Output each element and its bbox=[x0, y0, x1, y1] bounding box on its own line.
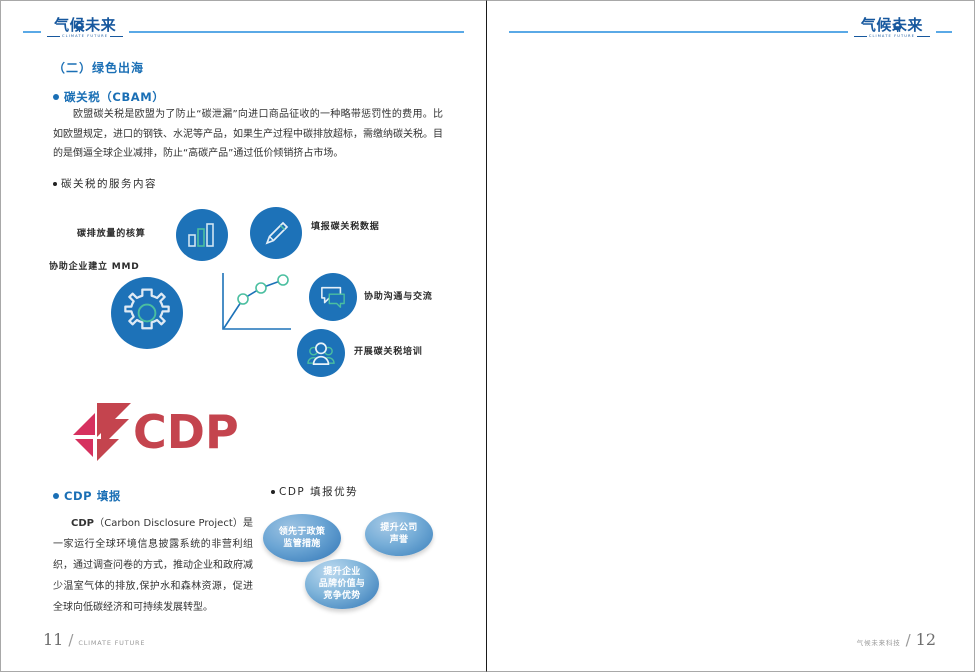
right-page: 气候未来 CLIMATE FUTURE 欧盟环境足迹（PEF） 欧盟环境足迹（P… bbox=[487, 0, 975, 672]
advantage-bubble-2-line1: 提升企业 bbox=[319, 566, 366, 578]
section-title: （二）绿色出海 bbox=[53, 59, 144, 76]
cbam-paragraph: 欧盟碳关税是欧盟为了防止“碳泄漏”向进口商品征收的一种略带惩罚性的费用。比如欧盟… bbox=[53, 105, 443, 164]
advantage-bubble-1[interactable]: 提升公司 声誉 bbox=[365, 512, 433, 556]
advantage-bubble-1-line2: 声誉 bbox=[380, 534, 417, 546]
bullet-dot-icon-cdp bbox=[53, 493, 59, 499]
gear-icon bbox=[119, 285, 175, 341]
leaf-icon-right bbox=[891, 21, 904, 34]
cdp-advantage-label: CDP 填报优势 bbox=[271, 484, 358, 499]
service-icon-people[interactable] bbox=[297, 329, 345, 377]
service-icon-pencil[interactable] bbox=[250, 207, 302, 259]
footer-caption-right: 气候未来科技 bbox=[857, 637, 901, 647]
footer-right: 气候未来科技 / 12 bbox=[857, 630, 936, 649]
service-label-3: 协助沟通与交流 bbox=[364, 289, 433, 302]
advantage-bubble-2-line2: 品牌价值与 bbox=[319, 578, 366, 590]
logo-subtitle-left: CLIMATE FUTURE bbox=[47, 35, 123, 39]
service-label-0: 碳排放量的核算 bbox=[77, 226, 146, 239]
footer-page-number-left: 11 bbox=[43, 630, 63, 649]
cdp-filing-heading-text: CDP 填报 bbox=[64, 488, 121, 504]
logo-subtitle-right: CLIMATE FUTURE bbox=[854, 35, 930, 39]
service-icon-speech[interactable] bbox=[309, 273, 357, 321]
book-spread: 气候未来 CLIMATE FUTURE （二）绿色出海 碳关税（CBAM） 欧盟… bbox=[0, 0, 975, 672]
footer-slash-right: / bbox=[906, 631, 911, 649]
service-content-label: 碳关税的服务内容 bbox=[53, 176, 157, 191]
footer-caption-left: CLIMATE FUTURE bbox=[78, 639, 145, 647]
line-chart-icon bbox=[217, 271, 295, 337]
leaf-icon-left bbox=[73, 21, 86, 34]
cdp-logo-text: CDP bbox=[133, 405, 239, 459]
footer-slash-left: / bbox=[68, 631, 73, 649]
cdp-paragraph-bold: CDP bbox=[71, 518, 94, 529]
bullet-dot-icon bbox=[53, 94, 59, 100]
cbam-service-infographic: 碳排放量的核算 填报碳关税数据 协助企业建立 MMD bbox=[39, 201, 449, 381]
service-icon-bar-chart[interactable] bbox=[176, 209, 228, 261]
footer-left: 11 / CLIMATE FUTURE bbox=[43, 630, 145, 649]
advantage-bubble-0[interactable]: 领先于政策 监管措施 bbox=[263, 514, 341, 562]
cdp-paragraph: CDP（Carbon Disclosure Project）是一家运行全球环境信… bbox=[53, 513, 253, 618]
cdp-advantage-label-text: CDP 填报优势 bbox=[279, 484, 358, 499]
small-bullet-icon bbox=[53, 182, 57, 186]
advantage-bubble-2[interactable]: 提升企业 品牌价值与 竞争优势 bbox=[305, 559, 379, 609]
cdp-logo: CDP bbox=[71, 399, 251, 461]
cdp-paragraph-text: （Carbon Disclosure Project）是一家运行全球环境信息披露… bbox=[53, 518, 253, 613]
advantage-bubble-1-line1: 提升公司 bbox=[380, 522, 417, 534]
speech-bubble-icon bbox=[318, 284, 348, 310]
footer-page-number-right: 12 bbox=[916, 630, 936, 649]
bar-chart-icon bbox=[187, 222, 217, 248]
advantage-bubble-0-line1: 领先于政策 bbox=[279, 526, 326, 538]
cbam-heading-text: 碳关税（CBAM） bbox=[64, 89, 164, 105]
service-icon-gear[interactable] bbox=[111, 277, 183, 349]
people-icon bbox=[306, 340, 336, 366]
left-page: 气候未来 CLIMATE FUTURE （二）绿色出海 碳关税（CBAM） 欧盟… bbox=[0, 0, 487, 672]
service-label-2: 协助企业建立 MMD bbox=[49, 259, 140, 272]
advantage-bubble-0-line2: 监管措施 bbox=[279, 538, 326, 550]
service-content-label-text: 碳关税的服务内容 bbox=[61, 176, 157, 191]
pencil-icon bbox=[261, 218, 291, 248]
service-label-4: 开展碳关税培训 bbox=[354, 344, 423, 357]
cdp-filing-heading: CDP 填报 bbox=[53, 488, 121, 504]
advantage-bubble-2-line3: 竞争优势 bbox=[319, 590, 366, 602]
small-bullet-icon-adv bbox=[271, 490, 275, 494]
cbam-heading: 碳关税（CBAM） bbox=[53, 89, 164, 105]
cdp-advantage-bubbles: 领先于政策 监管措施 提升公司 声誉 提升企业 品牌价值与 竞争优势 bbox=[263, 506, 453, 611]
service-label-1: 填报碳关税数据 bbox=[311, 219, 380, 232]
cdp-pinwheel-icon: CDP bbox=[71, 399, 251, 461]
